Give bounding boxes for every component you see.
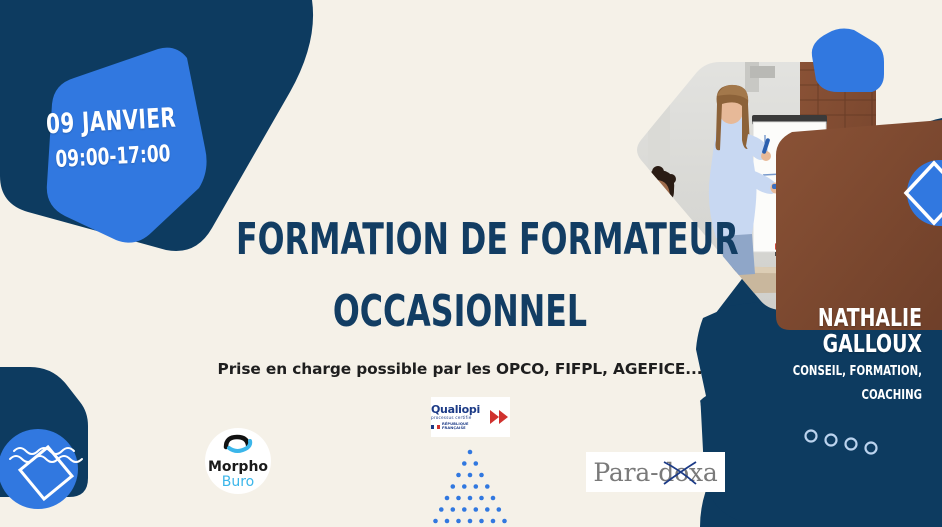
background-shapes (0, 0, 942, 527)
paradoxa-logo: Para-doxa (586, 452, 725, 492)
paradoxa-swoosh-icon (660, 458, 700, 488)
morpho-buro-logo: Morpho Buro (205, 428, 271, 494)
morpho-label: Morpho (208, 460, 268, 474)
photo-right-extension (776, 120, 942, 335)
buro-label: Buro (222, 475, 255, 489)
qualiopi-republic-label: RÉPUBLIQUE FRANÇAISE (442, 423, 487, 430)
morpho-swoosh-icon (223, 434, 253, 459)
qualiopi-logo: Qualiopi processus certifié RÉPUBLIQUE F… (431, 397, 510, 437)
qualiopi-name: Qualiopi (431, 404, 480, 415)
qualiopi-arrows-icon (490, 409, 510, 425)
french-flag-icon (431, 425, 440, 429)
poster-canvas: 09 JANVIER 09:00-17:00 FORMATION DE FORM… (0, 0, 942, 527)
qualiopi-subtitle: processus certifié (431, 416, 471, 420)
